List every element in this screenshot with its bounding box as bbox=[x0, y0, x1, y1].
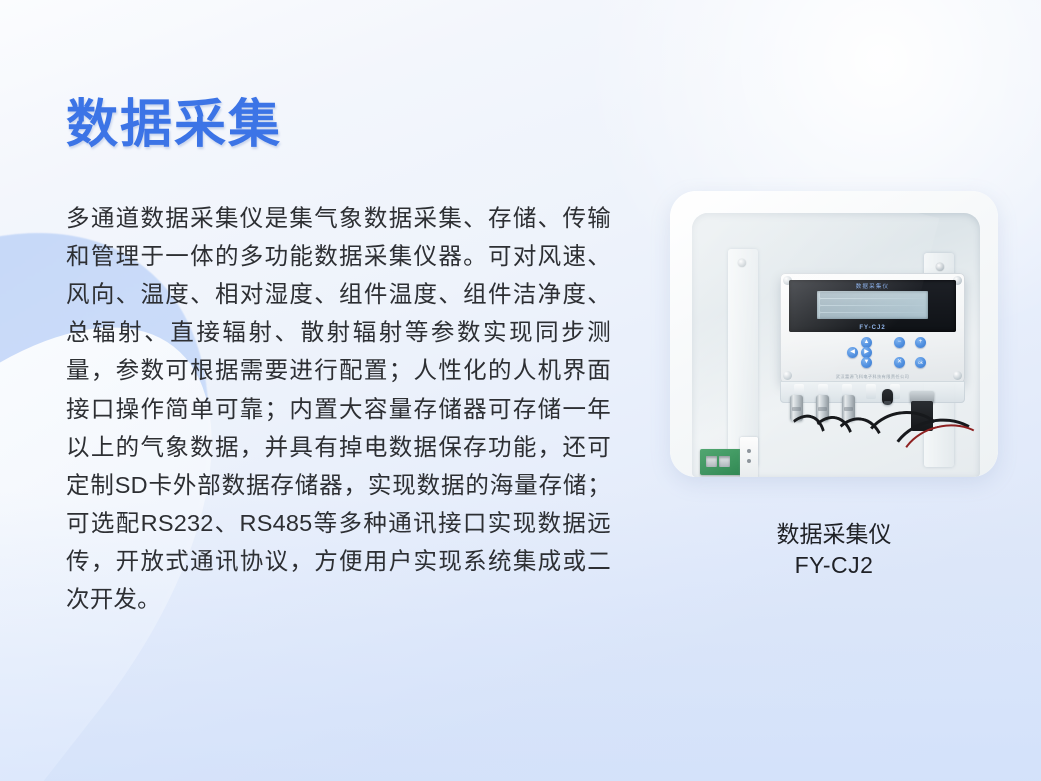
usb-pcb-module bbox=[700, 449, 742, 475]
device-lcd-screen bbox=[817, 291, 928, 319]
caption-product-model: FY-CJ2 bbox=[670, 550, 998, 581]
enclosure-cavity: 数据采集仪 FY-CJ2 ▲ ◀ ▶ ▼ bbox=[692, 213, 980, 477]
pcb-bracket bbox=[740, 437, 758, 477]
cable-2 bbox=[785, 409, 865, 477]
connector-slot bbox=[890, 384, 900, 399]
led-indicator-2 bbox=[747, 459, 751, 463]
key-minus-icon[interactable]: − bbox=[894, 337, 905, 348]
key-down-icon[interactable]: ▼ bbox=[861, 357, 872, 368]
aviation-connector-2 bbox=[816, 395, 829, 421]
key-plus-icon[interactable]: + bbox=[915, 337, 926, 348]
lcd-line bbox=[820, 306, 925, 312]
sensor-plug bbox=[882, 389, 893, 405]
key-cancel-icon[interactable]: ✕ bbox=[894, 357, 905, 368]
lcd-line bbox=[820, 313, 925, 319]
connector-slot bbox=[866, 384, 876, 399]
device-brand-label: 数据采集仪 bbox=[789, 282, 956, 290]
product-photo: 数据采集仪 FY-CJ2 ▲ ◀ ▶ ▼ bbox=[670, 191, 998, 477]
rail-screw-left bbox=[738, 259, 746, 267]
aviation-connector-3 bbox=[842, 395, 855, 421]
mounting-rail-left bbox=[728, 249, 758, 467]
lcd-line bbox=[820, 292, 925, 298]
rail-screw-right bbox=[936, 263, 944, 271]
connector-block bbox=[780, 381, 965, 403]
led-indicator-1 bbox=[747, 449, 751, 453]
device-screw-tl bbox=[783, 276, 792, 285]
body-paragraph: 多通道数据采集仪是集气象数据采集、存储、传输和管理于一体的多功能数据采集仪器。可… bbox=[66, 199, 611, 618]
key-ok-icon[interactable]: ok bbox=[915, 357, 926, 368]
device-model-label: FY-CJ2 bbox=[789, 325, 956, 331]
usb-port-a bbox=[706, 456, 717, 467]
connector-slot bbox=[818, 384, 828, 399]
key-up-icon[interactable]: ▲ bbox=[861, 337, 872, 348]
aviation-connector-1 bbox=[790, 395, 803, 421]
device-faceplate: 数据采集仪 FY-CJ2 bbox=[789, 280, 956, 332]
device-screw-bl bbox=[783, 371, 792, 380]
text-column: 数据采集 多通道数据采集仪是集气象数据采集、存储、传输和管理于一体的多功能数据采… bbox=[66, 96, 611, 618]
lcd-line bbox=[820, 299, 925, 305]
slide-root: 数据采集 多通道数据采集仪是集气象数据采集、存储、传输和管理于一体的多功能数据采… bbox=[0, 0, 1041, 781]
figure-caption: 数据采集仪 FY-CJ2 bbox=[670, 519, 998, 581]
connector-slot bbox=[842, 384, 852, 399]
device-keypad: ▲ ◀ ▶ ▼ − + ✕ ok bbox=[780, 335, 965, 367]
cable-1 bbox=[756, 407, 838, 477]
device-company-label: 武汉富源飞科电子科技有限责任公司 bbox=[780, 374, 965, 380]
data-logger-device: 数据采集仪 FY-CJ2 ▲ ◀ ▶ ▼ bbox=[780, 273, 965, 383]
key-left-icon[interactable]: ◀ bbox=[847, 347, 858, 358]
page-title: 数据采集 bbox=[66, 96, 611, 154]
diagonal-band-blue-outer bbox=[0, 394, 16, 781]
product-figure: 数据采集仪 FY-CJ2 ▲ ◀ ▶ ▼ bbox=[670, 191, 998, 581]
usb-port-b bbox=[719, 456, 730, 467]
connector-slot bbox=[794, 384, 804, 399]
key-enter-icon[interactable]: ▶ bbox=[861, 347, 872, 358]
caption-product-name: 数据采集仪 bbox=[777, 521, 892, 547]
